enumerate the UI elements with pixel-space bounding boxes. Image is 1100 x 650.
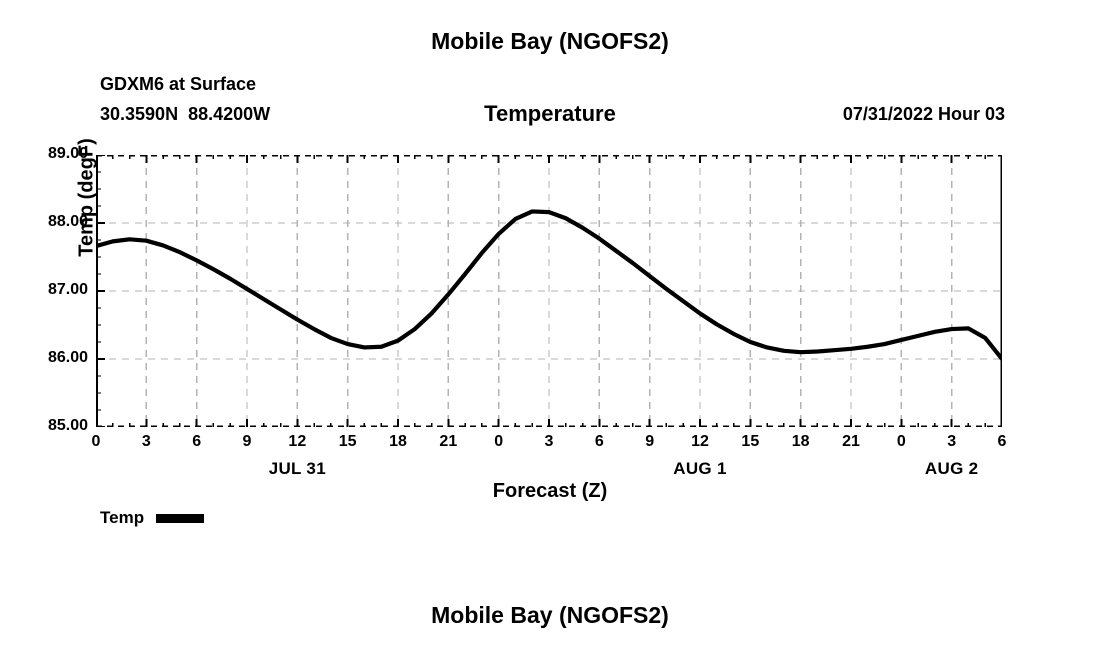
x-axis-day-label: AUG 1	[630, 459, 770, 479]
x-axis-tick-label: 0	[479, 433, 519, 451]
x-axis-tick-label: 6	[982, 433, 1022, 451]
x-axis-tick-label: 3	[126, 433, 166, 451]
x-axis-tick-label: 21	[831, 433, 871, 451]
x-axis-tick-label: 3	[529, 433, 569, 451]
x-axis-tick-label: 21	[428, 433, 468, 451]
x-axis-tick-label: 18	[378, 433, 418, 451]
x-axis-tick-label: 6	[177, 433, 217, 451]
y-axis-tick-label: 89.00	[8, 145, 88, 163]
x-axis-tick-label: 12	[277, 433, 317, 451]
chart-svg	[96, 155, 1002, 427]
x-axis-day-label: AUG 2	[882, 459, 1022, 479]
x-axis-tick-label: 0	[76, 433, 116, 451]
page-title: Mobile Bay (NGOFS2)	[0, 28, 1100, 55]
x-axis-tick-label: 12	[680, 433, 720, 451]
legend-label-temp: Temp	[100, 508, 144, 528]
y-axis-tick-label: 86.00	[8, 349, 88, 367]
y-axis-tick-label: 88.00	[8, 213, 88, 231]
y-axis-tick-label: 87.00	[8, 281, 88, 299]
chart-legend: Temp	[100, 508, 204, 528]
x-axis-tick-label: 15	[328, 433, 368, 451]
x-axis-tick-label: 9	[630, 433, 670, 451]
station-name-label: GDXM6 at Surface	[100, 74, 256, 95]
chart-page: Mobile Bay (NGOFS2) GDXM6 at Surface 30.…	[0, 0, 1100, 650]
x-axis-label: Forecast (Z)	[0, 480, 1100, 503]
x-axis-tick-label: 9	[227, 433, 267, 451]
plot-area	[96, 155, 1002, 427]
x-axis-tick-label: 0	[881, 433, 921, 451]
x-axis-tick-label: 6	[579, 433, 619, 451]
footer-title: Mobile Bay (NGOFS2)	[0, 602, 1100, 629]
x-axis-tick-label: 15	[730, 433, 770, 451]
x-axis-tick-label: 18	[781, 433, 821, 451]
x-axis-day-label: JUL 31	[227, 459, 367, 479]
model-run-timestamp: 07/31/2022 Hour 03	[843, 104, 1005, 125]
legend-swatch-temp	[156, 514, 204, 523]
x-axis-tick-label: 3	[932, 433, 972, 451]
